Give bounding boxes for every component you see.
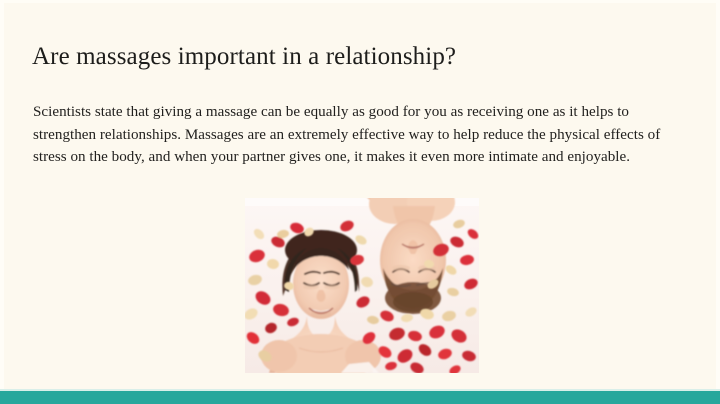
slide-title: Are massages important in a relationship… (32, 42, 682, 72)
slide-canvas: Are massages important in a relationship… (0, 0, 720, 404)
slide-right-edge (716, 0, 720, 391)
accent-bottom-bar (0, 391, 720, 404)
slide-body-paragraph: Scientists state that giving a massage c… (33, 101, 685, 169)
couple-rose-petals-photo (245, 198, 479, 373)
slide-left-edge (0, 0, 4, 391)
slide-top-edge (0, 0, 720, 3)
photo-illustration (245, 198, 479, 373)
